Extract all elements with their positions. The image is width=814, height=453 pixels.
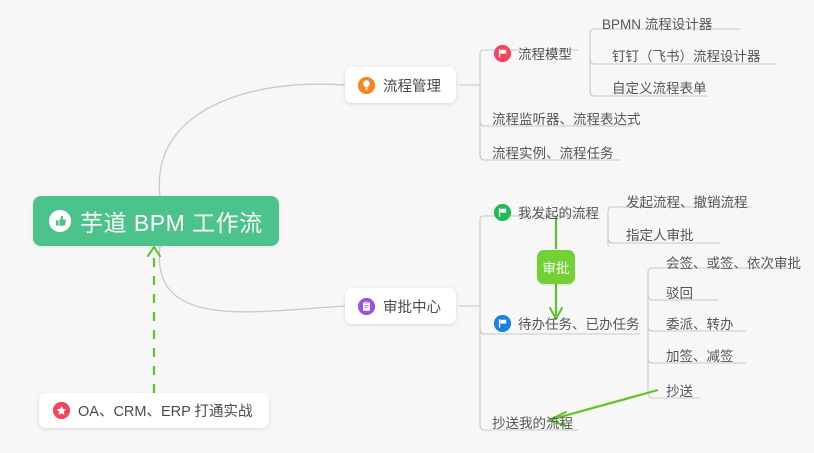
node-label: 会签、或签、依次审批 — [666, 252, 801, 272]
root-connector-top — [159, 84, 345, 196]
node-label: 自定义流程表单 — [612, 77, 707, 97]
branch-node-approval-center[interactable]: 审批中心 — [345, 288, 456, 324]
node-delegate-transfer[interactable]: 委派、转办 — [662, 308, 741, 338]
branch-node-label: 审批中心 — [383, 296, 441, 317]
node-todo-done-tasks[interactable]: 待办任务、已办任务 — [490, 308, 647, 338]
node-start-cancel-flow[interactable]: 发起流程、撤销流程 — [622, 186, 755, 216]
root-node-label: 芋道 BPM 工作流 — [80, 204, 263, 238]
node-process-model[interactable]: 流程模型 — [490, 38, 579, 68]
node-custom-form[interactable]: 自定义流程表单 — [608, 72, 714, 102]
node-label: 流程监听器、流程表达式 — [492, 108, 641, 128]
node-dingtalk-designer[interactable]: 钉钉（飞书）流程设计器 — [608, 40, 768, 70]
node-label: 流程模型 — [518, 43, 572, 63]
node-listener-expression[interactable]: 流程监听器、流程表达式 — [488, 103, 648, 133]
node-cc[interactable]: 抄送 — [662, 375, 700, 405]
root-connector-bottom — [159, 246, 345, 312]
node-instance-task[interactable]: 流程实例、流程任务 — [488, 137, 621, 167]
mindmap-canvas: 芋道 BPM 工作流 流程管理 流程模型 BPMN 流程设计器 钉钉（飞书 — [0, 0, 814, 453]
flag-icon — [494, 315, 511, 332]
node-label: 加签、减签 — [666, 345, 734, 365]
node-label: 委派、转办 — [666, 313, 734, 333]
node-label: 指定人审批 — [626, 224, 694, 244]
node-designated-approver[interactable]: 指定人审批 — [622, 219, 701, 249]
node-countersign[interactable]: 会签、或签、依次审批 — [662, 247, 808, 277]
flag-icon — [494, 45, 511, 62]
callout-arrow-head — [148, 247, 160, 256]
callout-node-label: OA、CRM、ERP 打通实战 — [78, 400, 253, 421]
root-node[interactable]: 芋道 BPM 工作流 — [33, 196, 279, 246]
node-cc-to-me-flows[interactable]: 抄送我的流程 — [488, 407, 580, 437]
highlight-approval-pill[interactable]: 审批 — [537, 250, 575, 284]
node-label: 我发起的流程 — [518, 202, 599, 222]
node-label: 抄送 — [666, 380, 693, 400]
node-bpmn-designer[interactable]: BPMN 流程设计器 — [598, 8, 719, 38]
branch-node-label: 流程管理 — [383, 75, 441, 96]
node-add-remove-sign[interactable]: 加签、减签 — [662, 340, 741, 370]
node-label: 流程实例、流程任务 — [492, 142, 614, 162]
star-icon — [53, 402, 70, 419]
callout-node-integration[interactable]: OA、CRM、ERP 打通实战 — [39, 393, 269, 428]
node-label: 待办任务、已办任务 — [518, 313, 640, 333]
clipboard-icon — [358, 298, 375, 315]
node-my-initiated-flows[interactable]: 我发起的流程 — [490, 197, 606, 227]
thumbs-up-icon — [49, 210, 71, 232]
node-label: BPMN 流程设计器 — [602, 13, 712, 33]
node-label: 抄送我的流程 — [492, 412, 573, 432]
node-label: 发起流程、撤销流程 — [626, 191, 748, 211]
lightbulb-icon — [358, 77, 375, 94]
branch-node-process-management[interactable]: 流程管理 — [345, 67, 456, 103]
highlight-approval-label: 审批 — [543, 257, 570, 277]
node-label: 钉钉（飞书）流程设计器 — [612, 45, 761, 65]
node-label: 驳回 — [666, 282, 693, 302]
flag-icon — [494, 204, 511, 221]
node-reject[interactable]: 驳回 — [662, 277, 700, 307]
